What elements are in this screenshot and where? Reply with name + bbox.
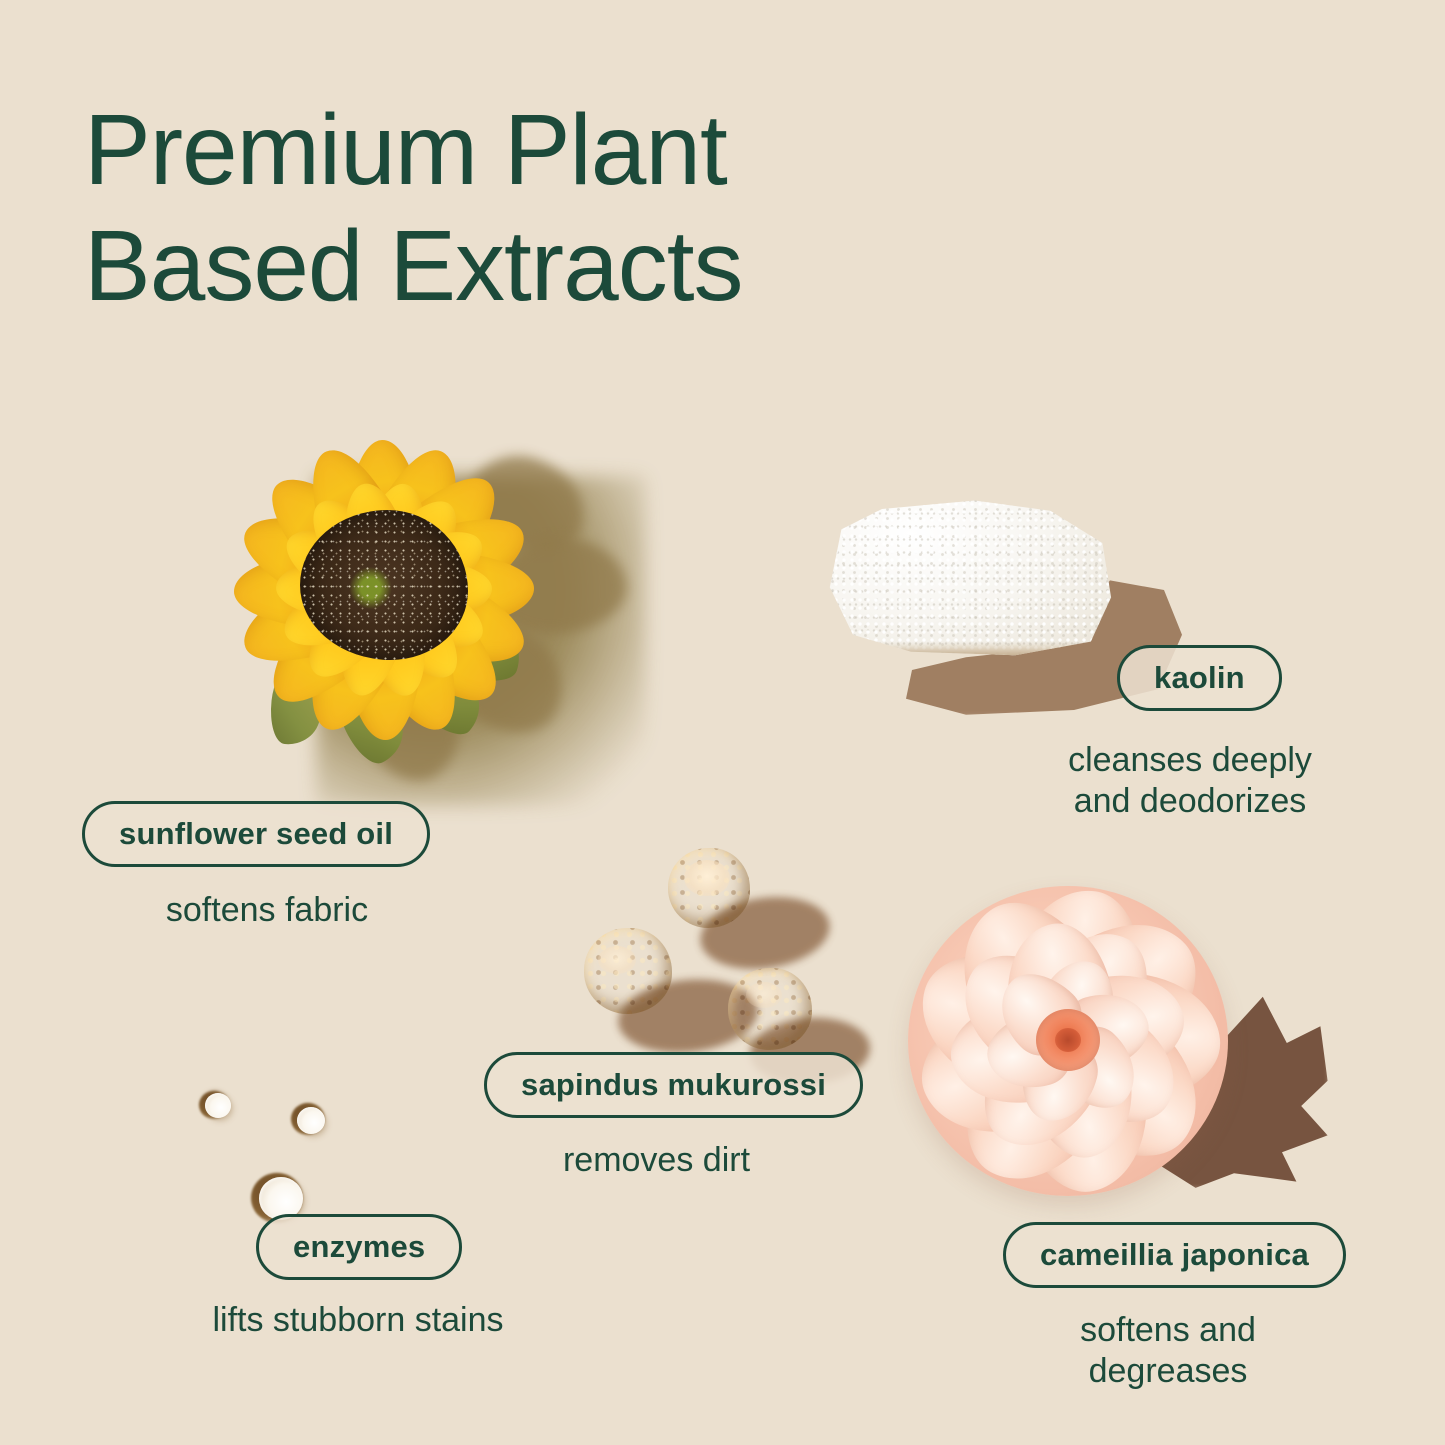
soap-nut-texture bbox=[728, 968, 812, 1050]
soap-nut-highlight bbox=[598, 946, 636, 974]
camellia-bloom bbox=[908, 886, 1228, 1196]
sunflower-seed-center bbox=[300, 510, 468, 660]
caption-kaolin: cleanses deeply and deodorizes bbox=[1040, 740, 1340, 823]
camellia-flower-photo bbox=[900, 880, 1330, 1220]
soap-nut bbox=[728, 968, 812, 1050]
label-pill-cameillia-japonica[interactable]: cameillia japonica bbox=[1003, 1222, 1346, 1288]
soap-nut-highlight bbox=[684, 860, 730, 896]
infographic-canvas: Premium Plant Based Extracts bbox=[0, 0, 1445, 1445]
caption-enzymes: lifts stubborn stains bbox=[163, 1300, 553, 1341]
sunflower-seed-texture bbox=[300, 510, 468, 660]
caption-sunflower-seed-oil: softens fabric bbox=[82, 890, 452, 931]
sunflower-bloom bbox=[214, 420, 554, 760]
label-pill-kaolin[interactable]: kaolin bbox=[1117, 645, 1282, 711]
soap-nut bbox=[584, 928, 672, 1014]
soap-nut-highlight bbox=[746, 982, 782, 1008]
soap-nut bbox=[668, 848, 750, 928]
camellia-center-core bbox=[1055, 1028, 1081, 1052]
label-pill-sapindus-mukurossi[interactable]: sapindus mukurossi bbox=[484, 1052, 863, 1118]
soap-nuts-photo bbox=[560, 840, 860, 1070]
sunflower-photo bbox=[196, 398, 666, 848]
caption-sapindus-mukurossi: removes dirt bbox=[484, 1140, 829, 1181]
caption-cameillia-japonica: softens and degreases bbox=[998, 1310, 1338, 1393]
camellia-center bbox=[1036, 1009, 1100, 1071]
enzyme-droplet bbox=[297, 1107, 325, 1134]
enzyme-droplet bbox=[205, 1093, 231, 1118]
kaolin-chunk bbox=[824, 492, 1114, 662]
page-title: Premium Plant Based Extracts bbox=[84, 92, 924, 324]
kaolin-texture bbox=[824, 492, 1114, 662]
label-pill-enzymes[interactable]: enzymes bbox=[256, 1214, 462, 1280]
label-pill-sunflower-seed-oil[interactable]: sunflower seed oil bbox=[82, 801, 430, 867]
